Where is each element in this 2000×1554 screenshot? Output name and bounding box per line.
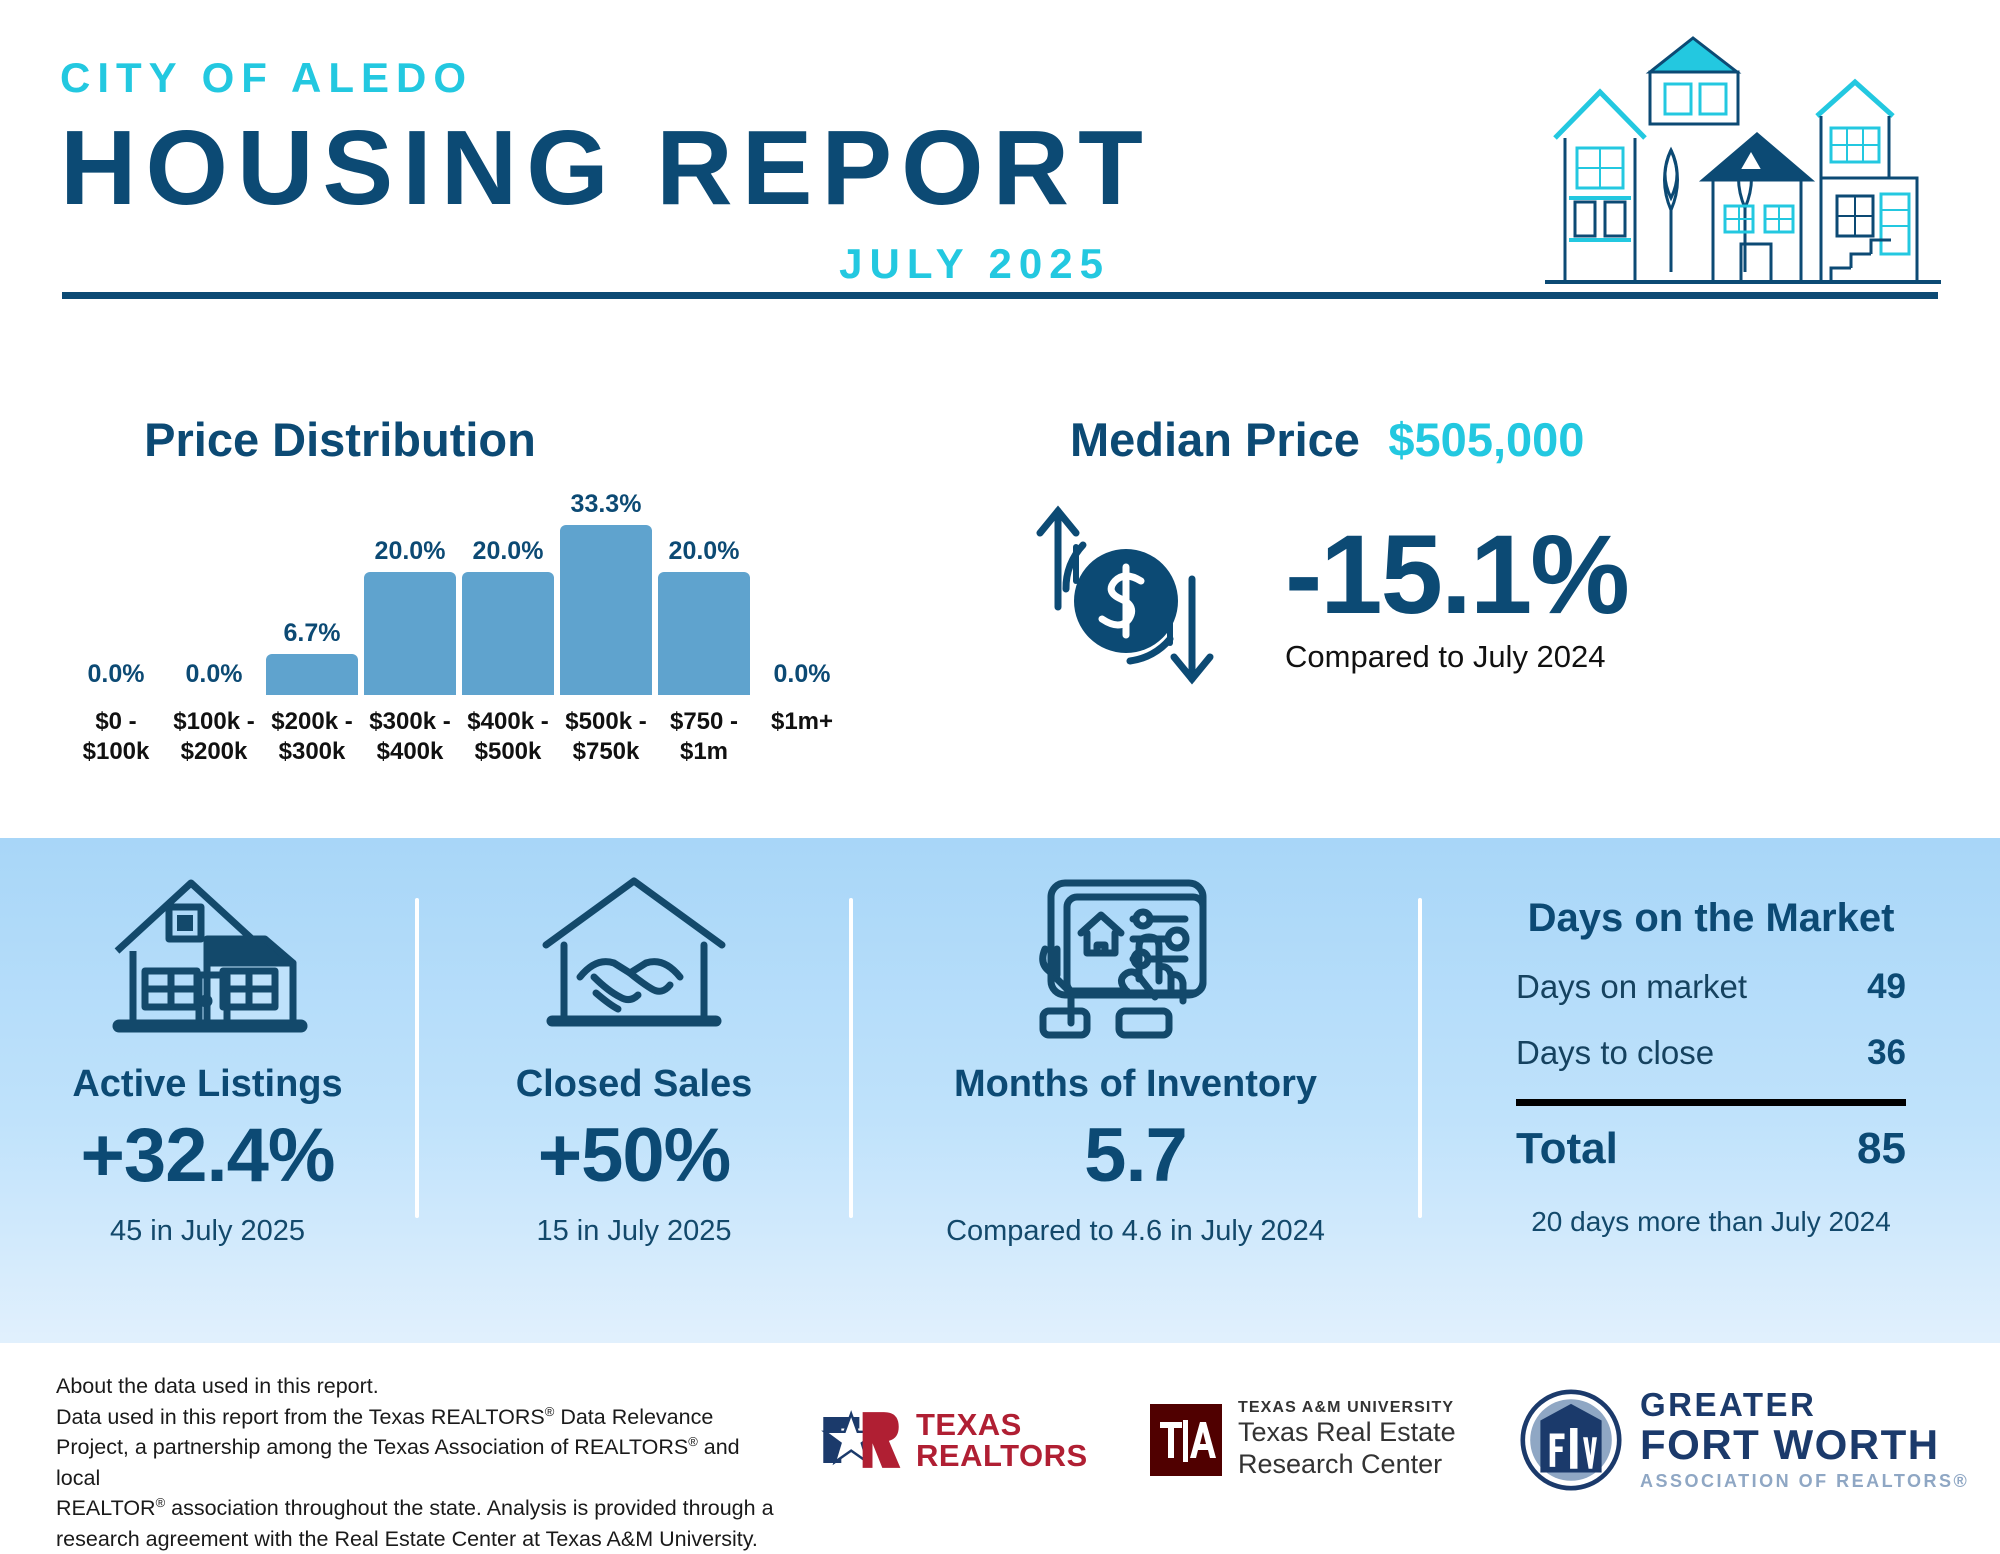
table-row: Days to close 36 [1516, 1033, 1906, 1073]
texas-realtors-logo: TEXAS REALTORS [820, 1407, 1150, 1473]
gfw-line-1: GREATER [1640, 1388, 1969, 1423]
x-tick-label: $0 - $100k [70, 707, 162, 767]
texas-realtors-mark-icon [820, 1407, 902, 1473]
middle-section: Price Distribution 0.0% 0.0% 6.7% [0, 390, 2000, 690]
stat-title: Active Listings [72, 1063, 342, 1106]
footer-logos: TEXAS REALTORS TEXAS A& [820, 1365, 1970, 1515]
x-tick-line1: $400k - [462, 707, 554, 737]
greater-fort-worth-logo: GREATER FORT WORTH ASSOCIATION OF REALTO… [1520, 1388, 1969, 1491]
x-tick-line1: $200k - [266, 707, 358, 737]
x-tick-label: $500k - $750k [560, 707, 652, 767]
total-value: 85 [1857, 1124, 1906, 1174]
disclaimer-line-4: REALTOR® association throughout the stat… [56, 1493, 776, 1524]
tamu-line-2: Texas Real Estate [1238, 1417, 1456, 1449]
chart-x-axis-labels: $0 - $100k $100k - $200k $200k - $300k $… [70, 707, 860, 767]
chart-title: Price Distribution [0, 412, 1000, 467]
x-tick-line2: $400k [364, 737, 456, 767]
bar [266, 654, 358, 695]
days-on-market-panel: Days on the Market Days on market 49 Day… [1422, 838, 2000, 1343]
report-header: CITY OF ALEDO HOUSING REPORT JULY 2025 [0, 0, 2000, 390]
x-tick-line1: $500k - [560, 707, 652, 737]
texas-realtors-line2: REALTORS [916, 1440, 1088, 1471]
bar-column: 20.0% [364, 490, 456, 695]
bar-value-label: 6.7% [266, 619, 358, 648]
bar-column: 0.0% [168, 490, 260, 695]
median-price-value: $505,000 [1388, 413, 1584, 466]
gfw-wordmark: GREATER FORT WORTH ASSOCIATION OF REALTO… [1640, 1388, 1969, 1491]
disclaimer-line-2: Data used in this report from the Texas … [56, 1402, 776, 1433]
report-month: JULY 2025 [60, 240, 1110, 288]
bar-value-label: 0.0% [70, 660, 162, 689]
median-compare-text: Compared to July 2024 [1285, 639, 1628, 675]
row-value: 49 [1867, 967, 1906, 1007]
median-change-figures: -15.1% Compared to July 2024 [1285, 519, 1628, 675]
x-tick-line2: $100k [70, 737, 162, 767]
table-total-row: Total 85 [1516, 1124, 1906, 1174]
total-label: Total [1516, 1124, 1618, 1174]
bar [462, 572, 554, 695]
tablet-hands-icon [1031, 866, 1241, 1051]
gfw-line-2: FORT WORTH [1640, 1423, 1969, 1468]
x-tick-line1: $0 - [70, 707, 162, 737]
days-on-market-title: Days on the Market [1528, 896, 1895, 941]
stat-title: Months of Inventory [954, 1063, 1317, 1106]
handshake-house-icon [534, 866, 734, 1051]
median-price-body: -15.1% Compared to July 2024 [1000, 489, 2000, 704]
x-tick-line1: $1m+ [756, 707, 848, 737]
disclaimer-line-3: Project, a partnership among the Texas A… [56, 1432, 776, 1493]
bar-column: 20.0% [658, 490, 750, 695]
x-tick-label: $400k - $500k [462, 707, 554, 767]
days-on-market-table: Days on market 49 Days to close 36 Total… [1516, 967, 1906, 1174]
report-footer: About the data used in this report. Data… [0, 1343, 2000, 1545]
dollar-cycle-icon [1010, 489, 1240, 704]
x-tick-line1: $750 - [658, 707, 750, 737]
x-tick-label: $100k - $200k [168, 707, 260, 767]
price-distribution-chart: Price Distribution 0.0% 0.0% 6.7% [0, 390, 1000, 467]
disclaimer-line-1: About the data used in this report. [56, 1371, 776, 1402]
median-change-percent: -15.1% [1285, 519, 1628, 631]
house-icon [103, 866, 313, 1051]
chart-bars: 0.0% 0.0% 6.7% 20.0% [70, 490, 860, 695]
x-tick-line2: $750k [560, 737, 652, 767]
median-price-label: Median Price [1070, 413, 1360, 466]
x-tick-label: $200k - $300k [266, 707, 358, 767]
house-illustration-icon [1525, 30, 1945, 298]
median-price-block: Median Price $505,000 [1000, 390, 2000, 704]
stat-value: +32.4% [81, 1112, 335, 1199]
stat-title: Closed Sales [516, 1063, 753, 1106]
tamu-research-center-logo: TEXAS A&M UNIVERSITY Texas Real Estate R… [1150, 1399, 1520, 1481]
x-tick-line2: $300k [266, 737, 358, 767]
stat-subtext: 45 in July 2025 [110, 1215, 305, 1248]
x-tick-line2: $200k [168, 737, 260, 767]
row-label: Days to close [1516, 1034, 1714, 1072]
row-label: Days on market [1516, 968, 1747, 1006]
x-tick-label: $750 - $1m [658, 707, 750, 767]
tamu-line-top: TEXAS A&M UNIVERSITY [1238, 1399, 1456, 1417]
x-tick-label: $1m+ [756, 707, 848, 767]
texas-realtors-line1: TEXAS [916, 1409, 1088, 1440]
bar-column: 0.0% [756, 490, 848, 695]
bar-value-label: 33.3% [560, 490, 652, 519]
disclaimer-text: About the data used in this report. Data… [56, 1371, 776, 1554]
tamu-line-3: Research Center [1238, 1449, 1456, 1481]
bar-value-label: 20.0% [364, 537, 456, 566]
disclaimer-line-5: research agreement with the Real Estate … [56, 1524, 776, 1554]
x-tick-line1: $100k - [168, 707, 260, 737]
stat-subtext: 15 in July 2025 [536, 1215, 731, 1248]
stats-band: Active Listings +32.4% 45 in July 2025 [0, 838, 2000, 1343]
row-value: 36 [1867, 1033, 1906, 1073]
stat-active-listings: Active Listings +32.4% 45 in July 2025 [0, 838, 415, 1343]
bar-value-label: 20.0% [462, 537, 554, 566]
bar-value-label: 20.0% [658, 537, 750, 566]
x-tick-line2: $500k [462, 737, 554, 767]
total-divider [1516, 1099, 1906, 1106]
stat-months-inventory: Months of Inventory 5.7 Compared to 4.6 … [853, 838, 1418, 1343]
gfw-emblem-icon [1520, 1389, 1622, 1491]
texas-realtors-wordmark: TEXAS REALTORS [916, 1409, 1088, 1471]
bar [560, 525, 652, 695]
bar-value-label: 0.0% [168, 660, 260, 689]
x-tick-line1: $300k - [364, 707, 456, 737]
bar [364, 572, 456, 695]
stat-value: +50% [538, 1112, 731, 1199]
bar-column: 0.0% [70, 490, 162, 695]
stat-closed-sales: Closed Sales +50% 15 in July 2025 [419, 838, 849, 1343]
chart-plot-area: 0.0% 0.0% 6.7% 20.0% [70, 490, 860, 760]
bar-column: 20.0% [462, 490, 554, 695]
bar-value-label: 0.0% [756, 660, 848, 689]
bar-column: 33.3% [560, 490, 652, 695]
tamu-badge-icon [1150, 1404, 1222, 1476]
bar-column: 6.7% [266, 490, 358, 695]
days-on-market-footnote: 20 days more than July 2024 [1531, 1206, 1891, 1238]
table-row: Days on market 49 [1516, 967, 1906, 1007]
gfw-line-3: ASSOCIATION OF REALTORS® [1640, 1471, 1969, 1492]
housing-report-infographic: CITY OF ALEDO HOUSING REPORT JULY 2025 [0, 0, 2000, 1545]
x-tick-line2: $1m [658, 737, 750, 767]
stat-subtext: Compared to 4.6 in July 2024 [946, 1215, 1325, 1248]
median-price-header: Median Price $505,000 [1000, 412, 2000, 467]
x-tick-label: $300k - $400k [364, 707, 456, 767]
bar [658, 572, 750, 695]
stat-value: 5.7 [1084, 1112, 1187, 1199]
tamu-wordmark: TEXAS A&M UNIVERSITY Texas Real Estate R… [1238, 1399, 1456, 1481]
